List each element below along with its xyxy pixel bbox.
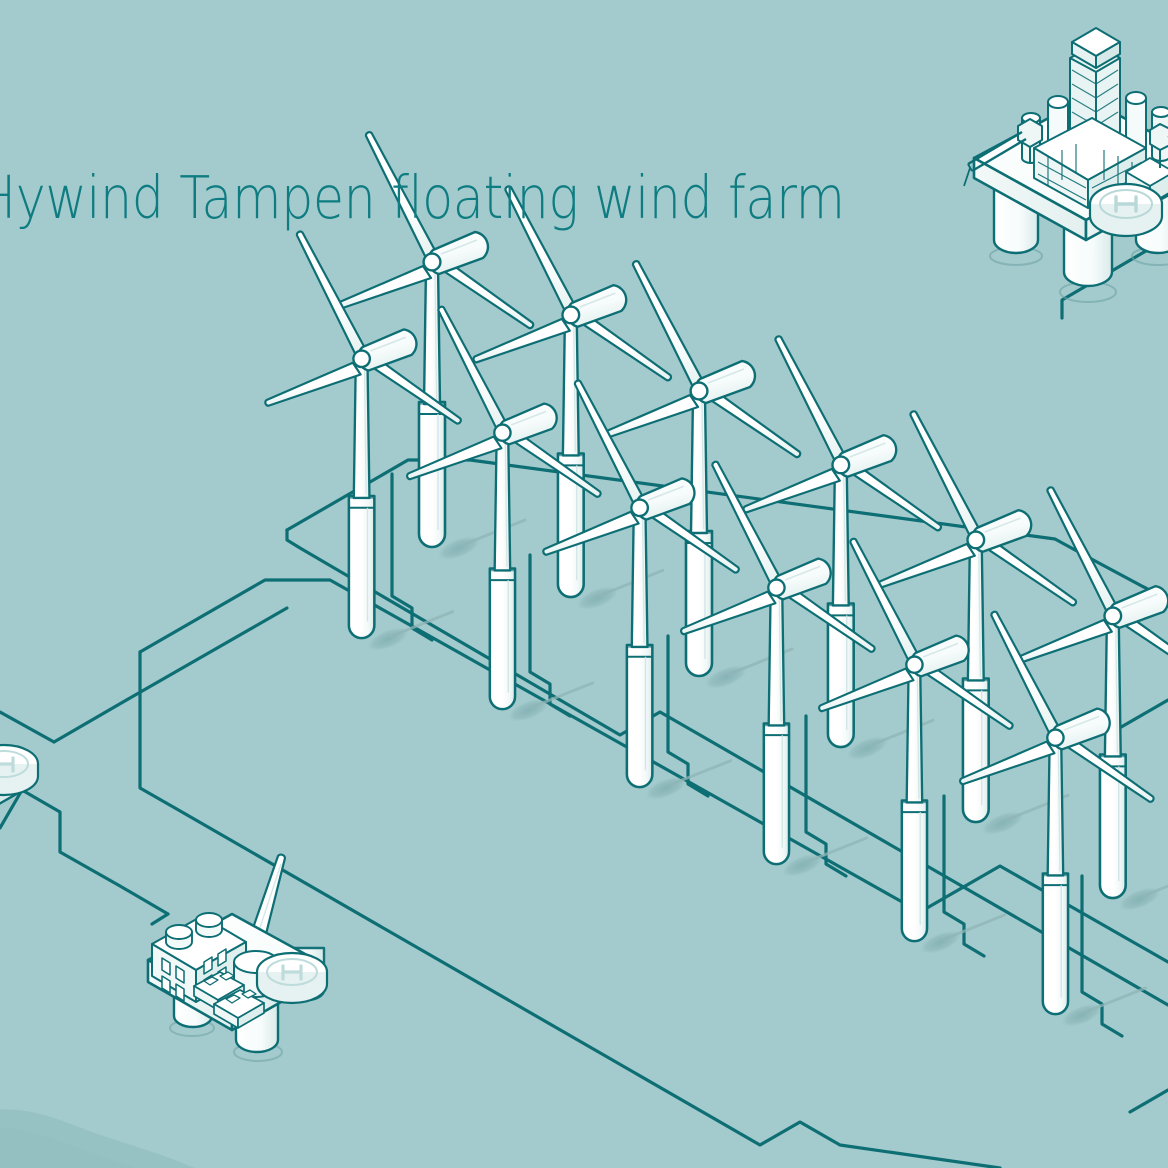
helipad	[257, 953, 327, 1003]
illustration-canvas: Hywind Tampen floating wind farm	[0, 0, 1168, 1168]
helipad	[1090, 184, 1162, 236]
page-title: Hywind Tampen floating wind farm	[0, 168, 845, 227]
helipad	[0, 745, 38, 795]
